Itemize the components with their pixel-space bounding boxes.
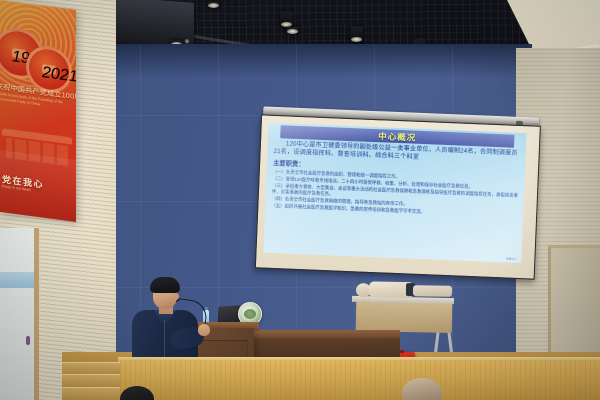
- spotlight-icon: [280, 11, 293, 28]
- audience-member: [402, 378, 442, 400]
- left-doorway: [0, 228, 39, 400]
- spotlight-icon: [350, 26, 363, 43]
- door-handle-icon: [26, 336, 30, 345]
- side-door: [548, 245, 600, 368]
- cpr-manikin: [356, 281, 452, 300]
- spotlight-icon: [207, 1, 220, 8]
- anniversary-banner: 1921 2021 庆祝中国共产党成立100周年 100th Anniversa…: [0, 0, 76, 222]
- photo-scene: 中心概况 120中心是市卫健委领导的副处级公益一类事业单位，人员编制24名，合同…: [0, 0, 600, 400]
- projection-screen: 中心概况 120中心是市卫健委领导的副处级公益一类事业单位，人员编制24名，合同…: [255, 106, 539, 279]
- manikin-legs: [413, 285, 452, 297]
- front-row-table-top: [250, 330, 400, 338]
- slide-footer-note: 急救中心: [506, 257, 517, 261]
- spotlight-icon: [286, 27, 299, 34]
- demo-table-body: [356, 301, 453, 333]
- doorway-window: [0, 272, 34, 288]
- presentation-slide: 中心概况 120中心是市卫健委领导的副处级公益一类事业单位，人员编制24名，合同…: [263, 123, 526, 263]
- slide-body: 120中心是市卫健委领导的副处级公益一类事业单位，人员编制24名，合同制调度员2…: [271, 140, 520, 219]
- screen-surface: 中心概况 120中心是市卫健委领导的副处级公益一类事业单位，人员编制24名，合同…: [255, 114, 541, 279]
- banner-year-left: 1921: [12, 48, 26, 59]
- banner-year-right: 2021: [42, 64, 56, 75]
- stage-front-panel: [120, 360, 600, 400]
- speaker-hand: [198, 324, 210, 336]
- stage-wood-grain: [120, 360, 600, 400]
- speaker-hair: [150, 277, 180, 293]
- speaker-ear: [174, 293, 179, 300]
